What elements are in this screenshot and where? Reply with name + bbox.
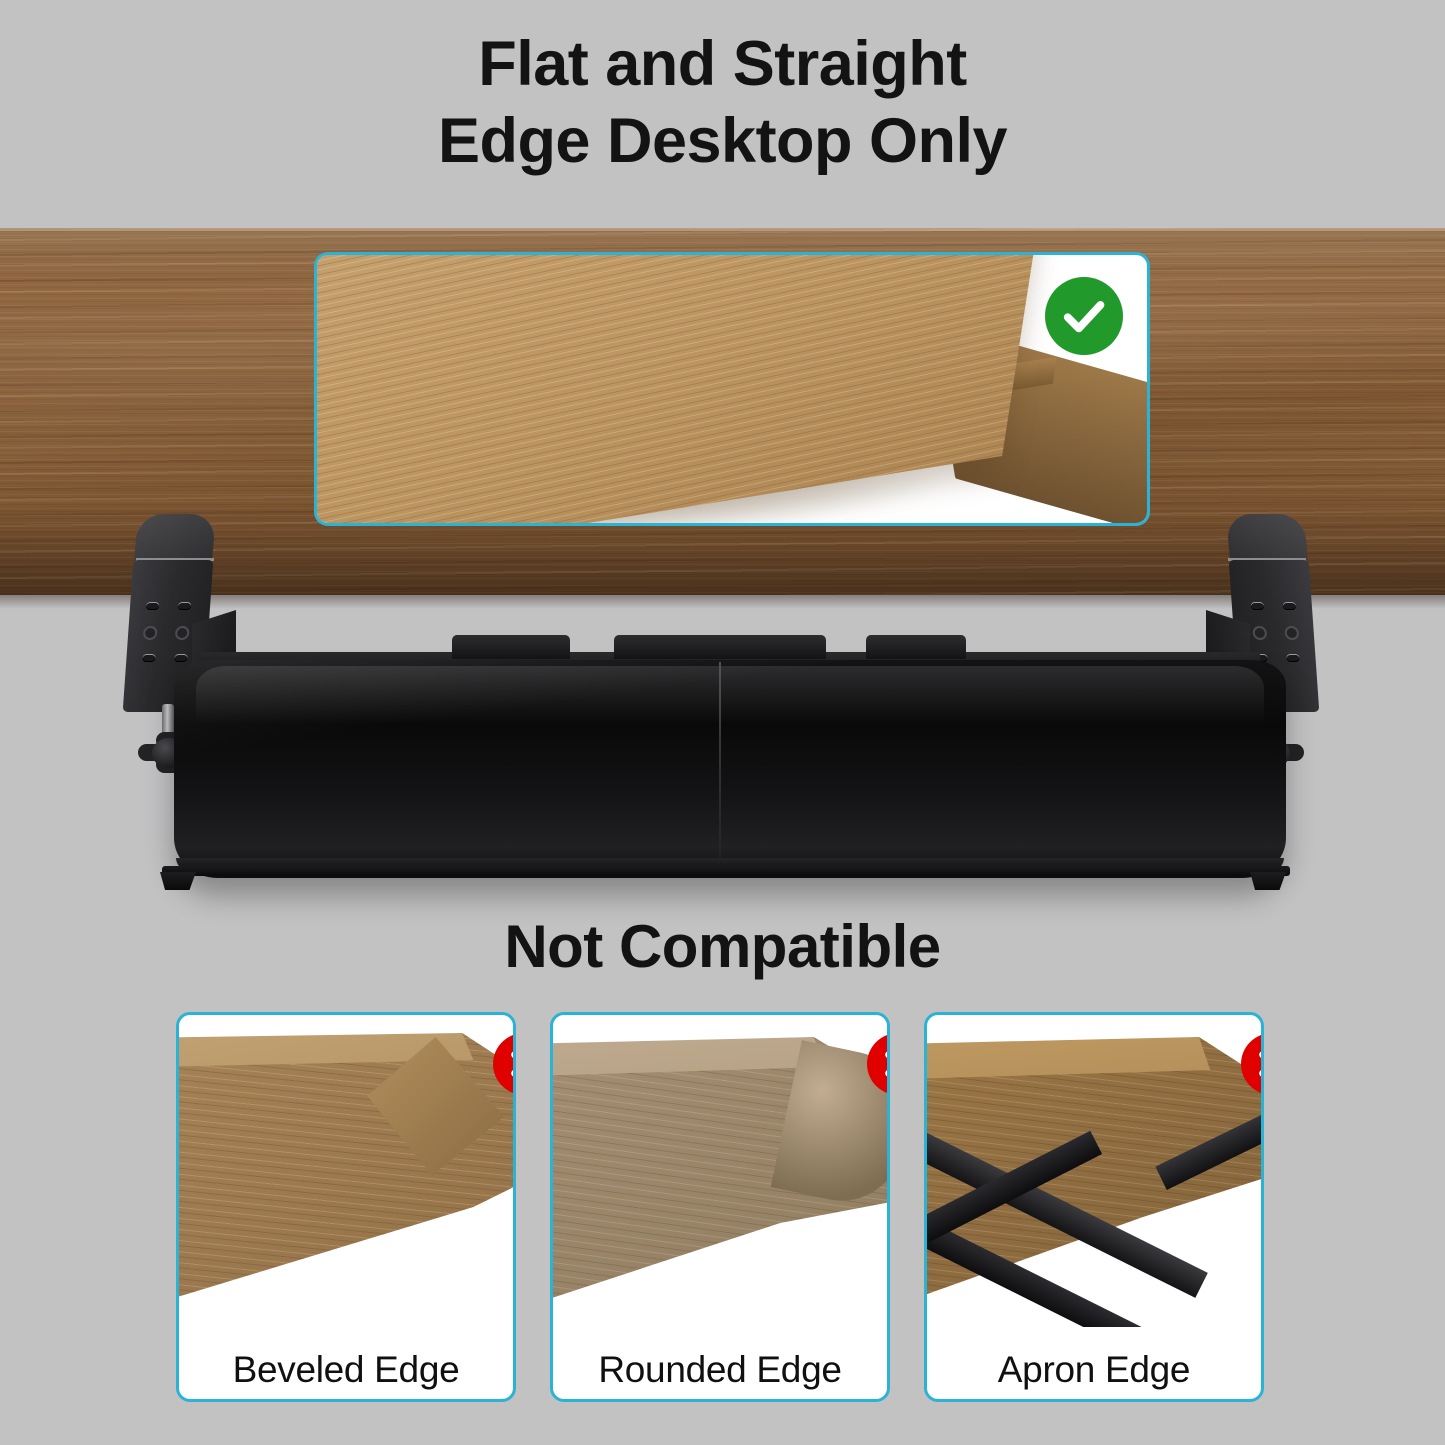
mounting-slot xyxy=(142,654,156,662)
not-compatible-heading: Not Compatible xyxy=(0,912,1445,981)
card-label: Apron Edge xyxy=(927,1349,1261,1391)
desk-top-highlight xyxy=(0,228,1445,231)
tray-mounting-tab xyxy=(452,635,570,659)
mounting-hole xyxy=(143,626,158,640)
compatible-example-card xyxy=(314,252,1150,526)
mounting-hole xyxy=(175,626,190,640)
clamp-top-pad xyxy=(1226,514,1308,562)
beveled-edge-illustration xyxy=(179,1015,513,1327)
tray-mounting-tab xyxy=(614,635,826,659)
rail-end-foot xyxy=(1250,872,1286,890)
mounting-slot xyxy=(174,654,188,662)
incompatible-card-apron-edge: Apron Edge xyxy=(924,1012,1264,1402)
incompatible-card-rounded-edge: Rounded Edge xyxy=(550,1012,890,1402)
tray-mounting-tab xyxy=(866,635,966,659)
green-check-icon xyxy=(1045,277,1123,355)
incompatible-card-beveled-edge: Beveled Edge xyxy=(176,1012,516,1402)
mounting-slot xyxy=(178,602,192,610)
tray-center-seam xyxy=(719,662,721,868)
tray-gloss-highlight xyxy=(196,666,1264,724)
mounting-slot xyxy=(1283,602,1297,610)
rail-end-foot xyxy=(160,872,196,890)
apron-edge-illustration xyxy=(927,1015,1261,1327)
mounting-slot xyxy=(1251,602,1265,610)
mounting-hole xyxy=(1284,626,1299,640)
rounded-edge-illustration xyxy=(553,1015,887,1327)
mounting-hole xyxy=(1252,626,1267,640)
title-line-2: Edge Desktop Only xyxy=(0,103,1445,180)
card-label: Rounded Edge xyxy=(553,1349,887,1391)
clamp-top-pad xyxy=(134,514,216,562)
keyboard-tray-product xyxy=(0,500,1445,930)
mounting-slot xyxy=(146,602,160,610)
mounting-slot xyxy=(1286,654,1300,662)
tray-slide-rail xyxy=(162,866,1290,876)
title-line-1: Flat and Straight xyxy=(0,26,1445,103)
page-title: Flat and Straight Edge Desktop Only xyxy=(0,26,1445,180)
card-label: Beveled Edge xyxy=(179,1349,513,1391)
